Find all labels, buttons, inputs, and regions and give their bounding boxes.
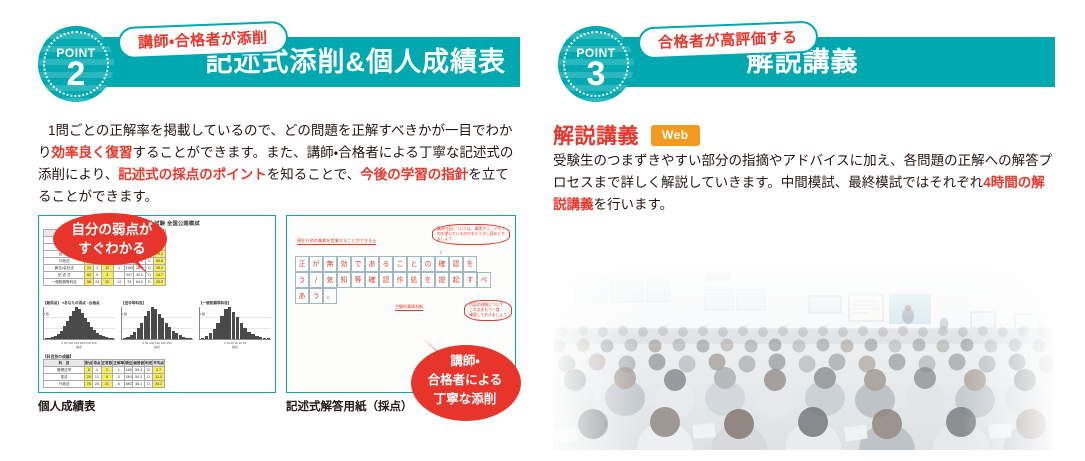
answer-grid-cell: 確 [435, 256, 449, 272]
answer-grid-cell: う [309, 288, 323, 304]
table-header-cell: 得点 [93, 360, 101, 367]
table-cell: 880 [125, 381, 133, 388]
table-cell: 20 [85, 374, 93, 381]
answer-grid-cell: す [463, 272, 477, 288]
table-cell: D [145, 381, 153, 388]
web-badge: Web [651, 125, 700, 146]
row-label-cell: 行政法 [44, 381, 85, 388]
table-row: 基礎法学842118955.4D2.7 [44, 367, 165, 374]
row-label-cell: 憲法 [44, 374, 85, 381]
grade-report-charts: 【総得点】 ●あなたの得点 ○合格点人数0 50 100 150 200 250… [43, 301, 271, 353]
callout-correction-line-1: 講師・ [410, 352, 520, 371]
answer-grid-cell: 等 [351, 272, 365, 288]
table-cell: 55.4 [133, 367, 145, 374]
lecture-subheading: 解説講義 [553, 120, 639, 150]
table-cell: 56 [85, 279, 93, 286]
answer-grid-cell: で [351, 256, 365, 272]
callout-weakness-line-1: 自分の弱点が [54, 220, 170, 239]
mini-histogram-plot: 人数 [43, 307, 115, 340]
answer-grid-cell: 気 [323, 272, 337, 288]
table-cell: 4 [93, 367, 101, 374]
table-cell: 8 [85, 367, 93, 374]
answer-grid-cell: あ [365, 256, 379, 272]
table-cell: D [145, 374, 153, 381]
table-cell: 21 [101, 381, 113, 388]
mini-histogram-bar [267, 338, 270, 339]
table-cell: 5 [101, 374, 113, 381]
answer-grid-cell: 認 [449, 256, 463, 272]
table-header-cell: 平均点 [153, 360, 165, 367]
body-seg-2: を行います。 [594, 197, 674, 212]
marketing-page: POINT 2 講師・合格者が添削 記述式添削&個人成績表 1問ごとの正解率を掲… [0, 0, 1085, 461]
mini-histogram: 【一般知識等科目】人数0 10 20 30 40 50得点 [199, 301, 271, 353]
callout-weakness-text: 自分の弱点が すぐわかる [54, 220, 170, 258]
table-header-cell: 科 目 [44, 360, 85, 367]
table-header-cell: 正解率 [113, 360, 125, 367]
table-cell: D [145, 279, 153, 286]
mini-histogram-ticks: 0 50 100 150 200 250 [121, 341, 193, 345]
body-highlight-1: 効率良く復習 [52, 145, 133, 160]
point-2-badge: POINT 2 [38, 26, 114, 102]
table-cell: 22 [101, 279, 113, 286]
point-2-header: POINT 2 講師・合格者が添削 記述式添削&個人成績表 [30, 0, 520, 100]
answer-grid-cell: 認 [379, 272, 393, 288]
answer-grid-cell: う [295, 272, 309, 288]
table-cell: 38.1 [133, 381, 145, 388]
answer-grid-cell: が [309, 256, 323, 272]
table-cell: 28 [93, 381, 101, 388]
table-cell: 8 [113, 381, 125, 388]
body-highlight-2: 記述式の採点のポイント [118, 167, 267, 182]
answer-grid-cell: 起 [449, 272, 463, 288]
table-header-row: 科 目配点得点正答数正解率順位偏差値判定平均点 [44, 360, 165, 367]
caption-grade-report: 個人成績表 [38, 398, 96, 414]
table-cell: 64.0 [134, 279, 146, 286]
mini-histogram: 【法令等科目】人数0 50 100 150 200 250得点 [121, 301, 193, 353]
answer-grid-cell: る [379, 256, 393, 272]
point-3-body: 受験生のつまずきやすい部分の指摘やアドバイスに加え、各問題の正解への解答プロセス… [553, 150, 1053, 216]
mini-histogram-title: 【一般知識等科目】 [199, 301, 271, 306]
table-cell: 11.0 [153, 374, 165, 381]
callout-weakness-line-2: すぐわかる [54, 239, 170, 258]
table-header-cell: 判定 [145, 360, 153, 367]
answer-grid-cell: / [309, 272, 323, 288]
table-cell: 12 [93, 374, 101, 381]
answer-note-bottom-right: 内容の理解について この点をもう一度 確認しておきましょう [464, 300, 512, 321]
answer-grid-cell: 正 [295, 256, 309, 272]
table-header-cell: 順位 [125, 360, 133, 367]
callout-correction-line-3: 丁寧な添削 [410, 390, 520, 409]
caption-answer-sheet: 記述式解答用紙（採点） [286, 398, 413, 414]
answer-grid-cell: の [421, 256, 435, 272]
table-cell: 280 [125, 374, 133, 381]
mini-histogram-ylabel: 人数 [43, 312, 49, 316]
classroom-photo [553, 268, 1053, 450]
answer-grid-row-3: あう。 [295, 288, 337, 304]
answer-grid-cell: べ [477, 272, 491, 288]
grade-report-sub-table: 科 目配点得点正答数正解率順位偏差値判定平均点基礎法学842118955.4D2… [43, 359, 165, 388]
mini-histogram-title: 【法令等科目】 [121, 301, 193, 306]
mini-histogram-bar [189, 338, 192, 339]
table-cell: 34.2 [153, 381, 165, 388]
answer-grid-cell: 作 [393, 272, 407, 288]
table-row: 行政法762821888038.1D34.2 [44, 381, 165, 388]
answer-grid-cell: 効 [337, 256, 351, 272]
table-cell: 1 [113, 367, 125, 374]
mini-histogram-ylabel: 人数 [121, 312, 127, 316]
table-cell: D [145, 367, 153, 374]
table-cell: 24 [93, 279, 101, 286]
mini-histogram-xlabel: 得点 [121, 345, 193, 349]
row-label-cell: 一般知識等科目 [44, 279, 85, 286]
answer-grid-cell: と [407, 256, 421, 272]
table-header-cell: 偏差値 [133, 360, 145, 367]
mini-histogram-plot: 人数 [121, 307, 193, 340]
answer-note-top-right: 講評内容については、事実から、メモで 何を望んでいるのかをもう少し読みとり まし… [432, 224, 510, 245]
answer-grid-cell: こ [393, 256, 407, 272]
row-label-cell: 基礎法学 [44, 367, 85, 374]
answer-grid-row-2: う/気知等確認作処を提起すべ [295, 272, 491, 288]
table-header-cell: 配点 [85, 360, 93, 367]
answer-correction-note: 主観的事情判断 [395, 304, 423, 311]
ribbon-text: 合格者が高評価する [658, 29, 798, 51]
table-cell: 2.7 [153, 367, 165, 374]
answer-grid-cell: を [421, 272, 435, 288]
answer-mark-check-icon: ✓ [439, 250, 443, 256]
callout-correction-line-2: 合格者による [410, 371, 520, 390]
point-3-header: POINT 3 合格者が高評価する 解説講義 [550, 0, 1055, 100]
mini-histogram-ticks: 0 10 20 30 40 50 [199, 341, 271, 345]
table-cell: 29.9 [154, 279, 166, 286]
table-row: 憲法20125328050.2D11.0 [44, 374, 165, 381]
mini-histogram-plot: 人数 [199, 307, 271, 340]
lecture-subheading-row: 解説講義 Web [553, 120, 700, 150]
mini-histogram-xlabel: 得点 [199, 345, 271, 349]
body-seg-1: 受験生のつまずきやすい部分の指摘やアドバイスに加え、各問題の正解への解答プロセス… [553, 153, 1052, 190]
mini-histogram: 【総得点】 ●あなたの得点 ○合格点人数0 50 100 150 200 250… [43, 301, 115, 353]
point-2-ribbon: 講師・合格者が添削 [117, 21, 288, 59]
point-2-section: POINT 2 講師・合格者が添削 記述式添削&個人成績表 1問ごとの正解率を掲… [30, 0, 520, 461]
answer-top-underline: 現在も他の業務を営業することができる土 [297, 238, 376, 245]
answer-grid-row-1: 正が無効であることの確認を [295, 256, 477, 272]
table-cell: 189 [125, 367, 133, 374]
table-row: 一般知識等科目562422147564.0D29.9 [44, 279, 166, 286]
answer-grid-cell: 無 [323, 256, 337, 272]
classroom-photo-illustration [553, 268, 1053, 450]
mini-histogram-ticks: 0 50 100 150 200 250 300 [43, 341, 115, 345]
answer-grid-cell: を [463, 256, 477, 272]
table-cell: 3 [113, 374, 125, 381]
answer-grid-cell: 。 [323, 288, 337, 304]
mini-histogram-xlabel: 得点 [43, 345, 115, 349]
body-seg-3: を知ることで、 [267, 167, 361, 182]
table-header-cell: 正答数 [101, 360, 113, 367]
table-cell: 14 [113, 279, 125, 286]
badge-number: 2 [38, 55, 114, 93]
answer-grid-cell: 確 [365, 272, 379, 288]
badge-number: 3 [558, 55, 634, 93]
mini-histogram-title: 【総得点】 ●あなたの得点 ○合格点 [43, 301, 115, 306]
mini-histogram-ylabel: 人数 [199, 312, 205, 316]
table-cell: 75 [125, 279, 134, 286]
answer-grid-cell: あ [295, 288, 309, 304]
answer-grid-cell: 提 [435, 272, 449, 288]
point-2-body: 1問ごとの正解率を掲載しているので、どの問題を正解すべきかが一目でわかり効率良く… [38, 120, 516, 208]
point-3-badge: POINT 3 [558, 26, 634, 102]
callout-correction-text: 講師・ 合格者による 丁寧な添削 [410, 352, 520, 409]
table-cell: 2 [101, 367, 113, 374]
body-highlight-3: 今後の学習の指針 [360, 167, 468, 182]
answer-grid-cell: 処 [407, 272, 421, 288]
ribbon-text: 講師・合格者が添削 [138, 30, 268, 52]
answer-grid-cell: 知 [337, 272, 351, 288]
point-3-section: POINT 3 合格者が高評価する 解説講義 解説講義 Web 受験生のつまずき… [550, 0, 1055, 461]
table-cell: 50.2 [133, 374, 145, 381]
table-cell: 76 [85, 381, 93, 388]
mini-histogram-bar [111, 338, 114, 339]
